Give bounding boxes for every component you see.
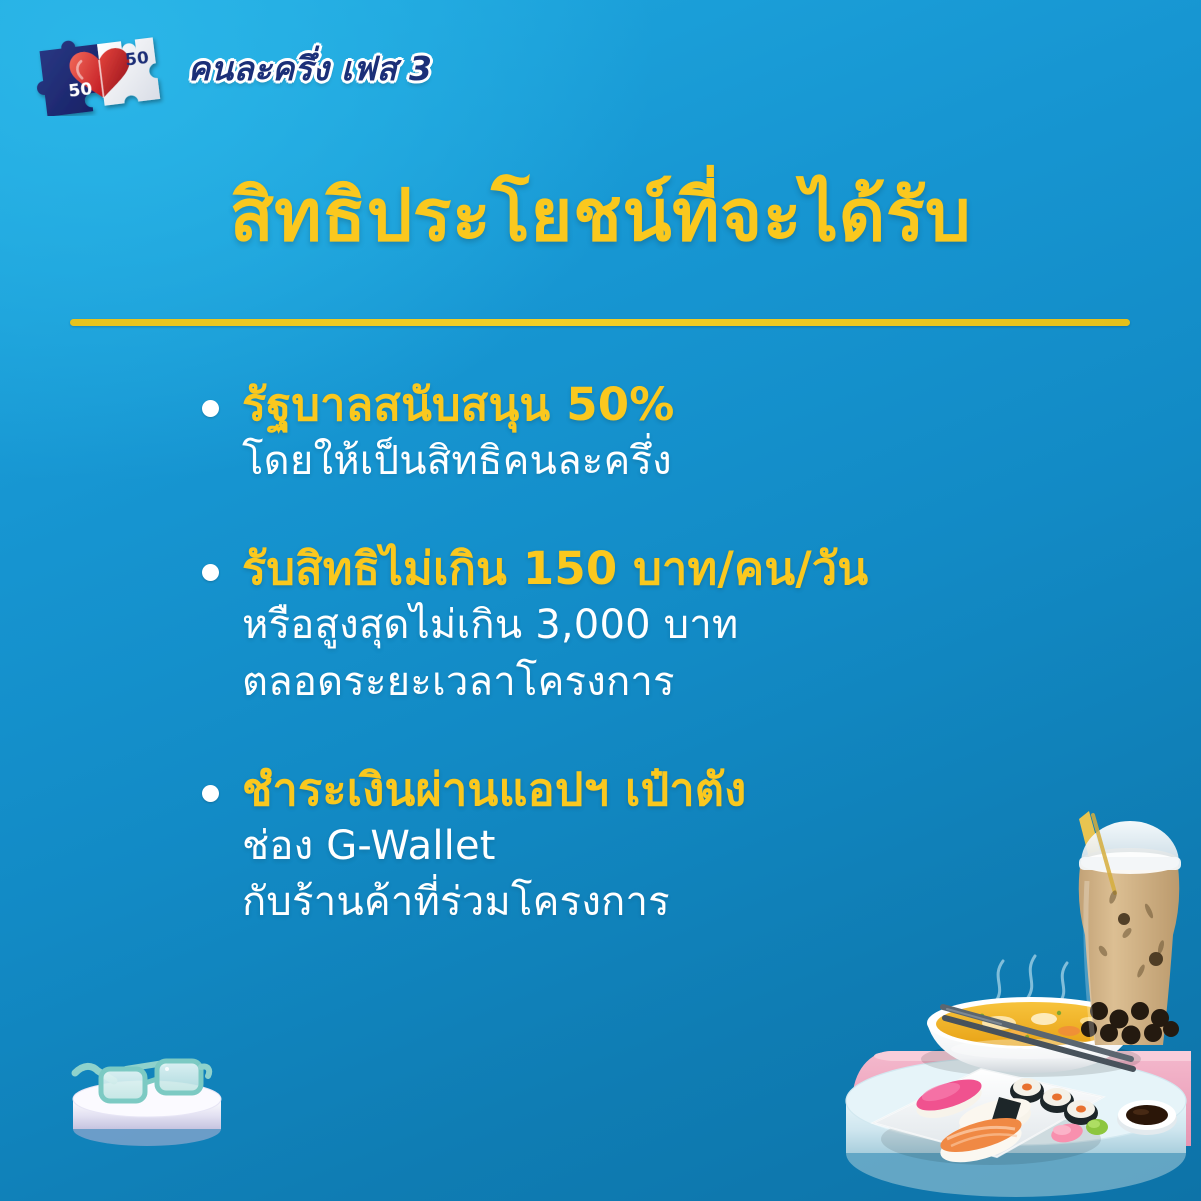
- eyeglasses-illustration: [40, 1033, 255, 1153]
- brand-title: คนละครึ่ง เฟส 3: [188, 42, 432, 95]
- list-item: รับสิทธิไม่เกิน 150 บาท/คน/วัน หรือสูงสุ…: [196, 542, 1056, 709]
- bullet-dot-icon: [202, 785, 219, 802]
- bubble-tea-cup: [1079, 811, 1181, 1045]
- bullet-dot-icon: [202, 400, 219, 417]
- eyeglasses-on-podium-icon: [40, 1033, 255, 1153]
- benefit-detail-line: หรือสูงสุดไม่เกิน 3,000 บาท: [242, 599, 1056, 652]
- brand-header: 50 50 คนละครึ่ง เฟส 3: [26, 22, 432, 114]
- soy-sauce-dish: [1117, 1100, 1177, 1135]
- benefit-heading: รับสิทธิไม่เกิน 150 บาท/คน/วัน: [242, 542, 1056, 595]
- wasabi: [1086, 1119, 1108, 1135]
- logo-right-50: 50: [124, 48, 150, 71]
- page-title: สิทธิประโยชน์ที่จะได้รับ: [0, 178, 1201, 254]
- food-scene-icon: [831, 801, 1201, 1201]
- logo-left-50: 50: [67, 79, 93, 102]
- infographic-poster: 50 50 คนละครึ่ง เฟส 3 สิทธิประโยชน์ที่จะ…: [0, 0, 1201, 1201]
- puzzle-heart-5050-logo-icon: 50 50: [26, 20, 174, 116]
- khonlakhrueng-logo: 50 50: [26, 20, 174, 116]
- title-divider: [70, 319, 1130, 326]
- benefit-detail-line: โดยให้เป็นสิทธิคนละครึ่ง: [242, 435, 1056, 488]
- list-item: รัฐบาลสนับสนุน 50% โดยให้เป็นสิทธิคนละคร…: [196, 378, 1056, 488]
- bullet-dot-icon: [202, 564, 219, 581]
- benefit-detail-line: ตลอดระยะเวลาโครงการ: [242, 656, 1056, 709]
- benefit-heading: รัฐบาลสนับสนุน 50%: [242, 378, 1056, 431]
- food-illustration: [831, 801, 1201, 1201]
